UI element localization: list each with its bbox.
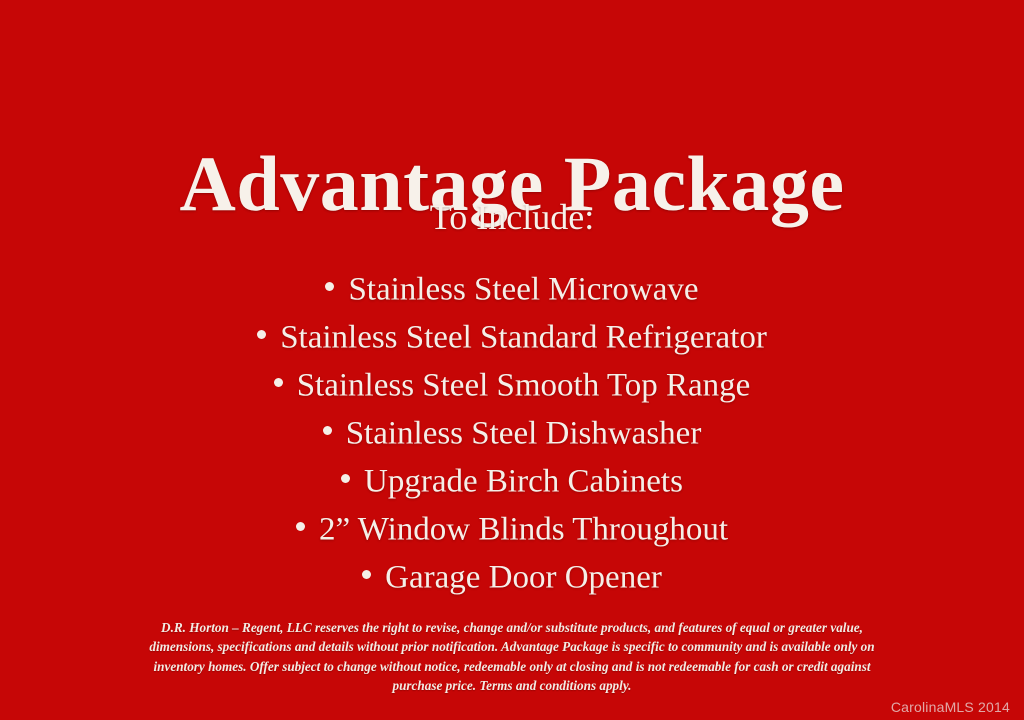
feature-label: Stainless Steel Smooth Top Range [297, 367, 751, 403]
bullet-dot-icon [341, 474, 350, 483]
feature-label: Garage Door Opener [385, 559, 662, 595]
feature-list: Stainless Steel MicrowaveStainless Steel… [0, 263, 1024, 599]
feature-label: Stainless Steel Dishwasher [346, 415, 702, 451]
feature-label: Stainless Steel Microwave [348, 271, 698, 307]
feature-item: Stainless Steel Dishwasher [0, 407, 1024, 455]
subtitle: To Include: [0, 196, 1024, 238]
disclaimer-line: D.R. Horton – Regent, LLC reserves the r… [78, 618, 946, 637]
feature-label: Upgrade Birch Cabinets [364, 463, 683, 499]
disclaimer-line: dimensions, specifications and details w… [78, 637, 946, 656]
feature-item: Garage Door Opener [0, 551, 1024, 599]
bullet-dot-icon [296, 522, 305, 531]
feature-item: Stainless Steel Microwave [0, 263, 1024, 311]
disclaimer-line: inventory homes. Offer subject to change… [78, 657, 946, 676]
watermark: CarolinaMLS 2014 [891, 698, 1010, 716]
feature-item: Stainless Steel Smooth Top Range [0, 359, 1024, 407]
feature-item: Upgrade Birch Cabinets [0, 455, 1024, 503]
disclaimer-text: D.R. Horton – Regent, LLC reserves the r… [78, 618, 946, 695]
feature-label: 2” Window Blinds Throughout [319, 511, 728, 547]
feature-item: 2” Window Blinds Throughout [0, 503, 1024, 551]
bullet-dot-icon [274, 378, 283, 387]
bullet-dot-icon [257, 330, 266, 339]
advantage-package-slide: Advantage Package To Include: Stainless … [0, 0, 1024, 720]
bullet-dot-icon [362, 570, 371, 579]
feature-item: Stainless Steel Standard Refrigerator [0, 311, 1024, 359]
bullet-dot-icon [325, 282, 334, 291]
disclaimer-line: purchase price. Terms and conditions app… [78, 676, 946, 695]
bullet-dot-icon [323, 426, 332, 435]
feature-label: Stainless Steel Standard Refrigerator [280, 319, 767, 355]
